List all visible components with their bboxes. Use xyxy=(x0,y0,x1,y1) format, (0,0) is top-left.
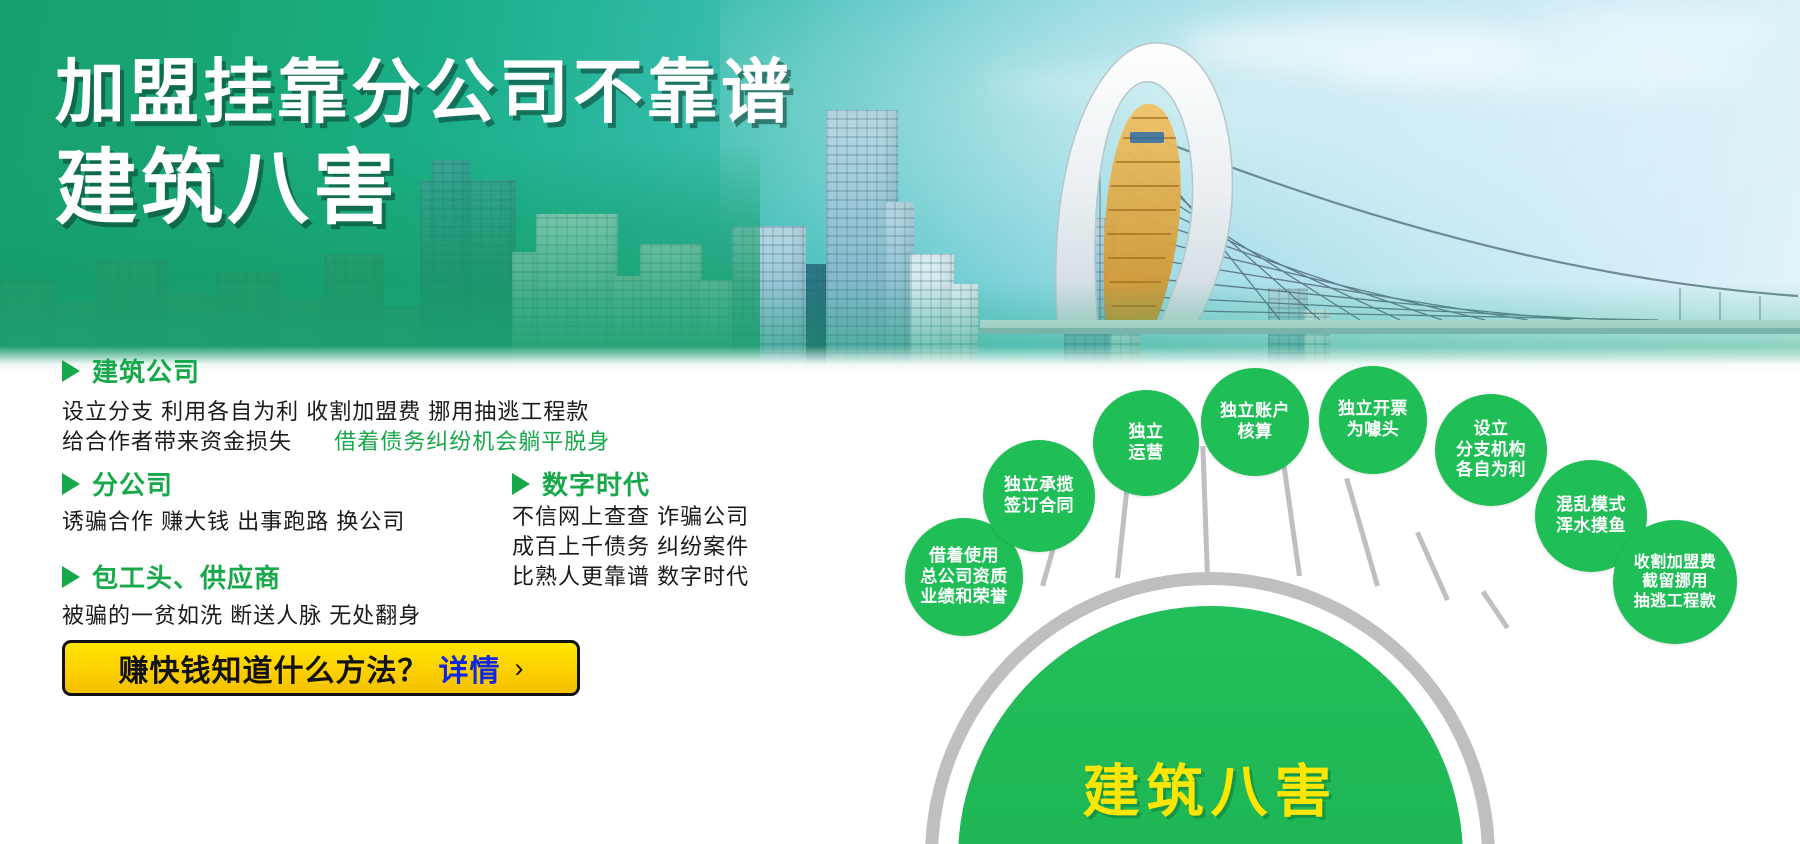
bubble-line: 分支机构 xyxy=(1456,440,1526,461)
bubble-line: 浑水摸鱼 xyxy=(1556,516,1626,537)
triangle-bullet-icon xyxy=(512,473,530,495)
poster-root: 加盟挂靠分公司不靠谱 建筑八害 建筑公司 设立分支 利用各自为利 收割加盟费 挪… xyxy=(0,0,1800,844)
bubble-line: 抽逃工程款 xyxy=(1634,592,1717,612)
bubble-independent-contracting[interactable]: 独立承揽 签订合同 xyxy=(983,440,1095,552)
triangle-bullet-icon xyxy=(62,473,80,495)
bubble-line: 收割加盟费 xyxy=(1634,553,1717,573)
section-heading-digital-era: 数字时代 xyxy=(512,465,650,502)
bubble-line: 签订合同 xyxy=(1004,496,1074,517)
connector-stem xyxy=(1344,478,1380,587)
bubble-line: 为噱头 xyxy=(1347,420,1400,441)
bubble-line: 借着使用 xyxy=(929,546,999,567)
bubble-line: 独立承揽 xyxy=(1004,475,1074,496)
section-body-line: 诱骗合作 赚大钱 出事跑路 换公司 xyxy=(62,505,405,538)
section-heading-label: 包工头、供应商 xyxy=(92,558,281,595)
section-body-line: 比熟人更靠谱 数字时代 xyxy=(512,560,749,593)
bubble-line: 总公司资质 xyxy=(920,567,1008,588)
cta-main-label: 赚快钱知道什么方法？ xyxy=(119,646,429,690)
section-body-line: 成百上千债务 纠纷案件 xyxy=(512,530,749,563)
bubble-line: 独立开票 xyxy=(1338,399,1408,420)
section-heading-construction-company: 建筑公司 xyxy=(62,352,200,389)
section-body-text-highlight: 借着债务纠纷机会躺平脱身 xyxy=(334,429,610,454)
bubble-line: 截留挪用 xyxy=(1642,572,1708,592)
bubble-line: 运营 xyxy=(1129,443,1164,464)
section-body-line: 不信网上查查 诈骗公司 xyxy=(512,500,749,533)
bubble-franchise-fee-embezzlement[interactable]: 收割加盟费 截留挪用 抽逃工程款 xyxy=(1613,520,1737,644)
hero-title-line-1: 加盟挂靠分公司不靠谱 xyxy=(55,52,795,133)
cta-detail-link[interactable]: 详情 xyxy=(439,646,501,690)
bubble-independent-operation[interactable]: 独立 运营 xyxy=(1093,390,1199,496)
dome-label: 建筑八害 xyxy=(958,746,1463,828)
section-heading-branch-company: 分公司 xyxy=(62,465,173,502)
connector-stem xyxy=(1200,446,1210,578)
section-heading-contractor-supplier: 包工头、供应商 xyxy=(62,558,281,595)
bubble-line: 混乱模式 xyxy=(1556,495,1626,516)
triangle-bullet-icon xyxy=(62,360,80,382)
bubble-line: 核算 xyxy=(1238,422,1273,443)
bubble-line: 独立 xyxy=(1129,422,1164,443)
hero-title-line-2: 建筑八害 xyxy=(55,141,795,236)
bubble-line: 设立 xyxy=(1474,419,1509,440)
bubble-line: 独立账户 xyxy=(1220,401,1290,422)
section-body-line: 被骗的一贫如洗 断送人脉 无处翻身 xyxy=(62,599,421,632)
section-heading-label: 分公司 xyxy=(92,465,173,502)
section-heading-label: 建筑公司 xyxy=(92,352,200,389)
chevron-right-icon: › xyxy=(515,653,524,684)
bubble-setup-branches[interactable]: 设立 分支机构 各自为利 xyxy=(1435,394,1547,506)
hero-title: 加盟挂靠分公司不靠谱 建筑八害 xyxy=(55,52,795,236)
section-body-line: 设立分支 利用各自为利 收割加盟费 挪用抽逃工程款 xyxy=(62,395,589,428)
eight-harms-diagram: 建筑八害 借着使用 总公司资质 业绩和荣誉 独立承揽 签订合同 独立 运营 独立… xyxy=(905,378,1800,844)
section-body-line-group: 给合作者带来资金损失 借着债务纠纷机会躺平脱身 xyxy=(62,425,610,458)
section-body-text: 给合作者带来资金损失 xyxy=(62,429,292,454)
triangle-bullet-icon xyxy=(62,566,80,588)
section-heading-label: 数字时代 xyxy=(542,465,650,502)
cta-button[interactable]: 赚快钱知道什么方法？ 详情 › xyxy=(62,640,580,696)
bubble-independent-account[interactable]: 独立账户 核算 xyxy=(1201,368,1309,476)
bubble-line: 业绩和荣誉 xyxy=(920,587,1008,608)
connector-stem xyxy=(1481,590,1510,629)
bubble-line: 各自为利 xyxy=(1456,460,1526,481)
connector-stem xyxy=(1415,531,1450,601)
bubble-independent-invoicing[interactable]: 独立开票 为噱头 xyxy=(1319,366,1427,474)
